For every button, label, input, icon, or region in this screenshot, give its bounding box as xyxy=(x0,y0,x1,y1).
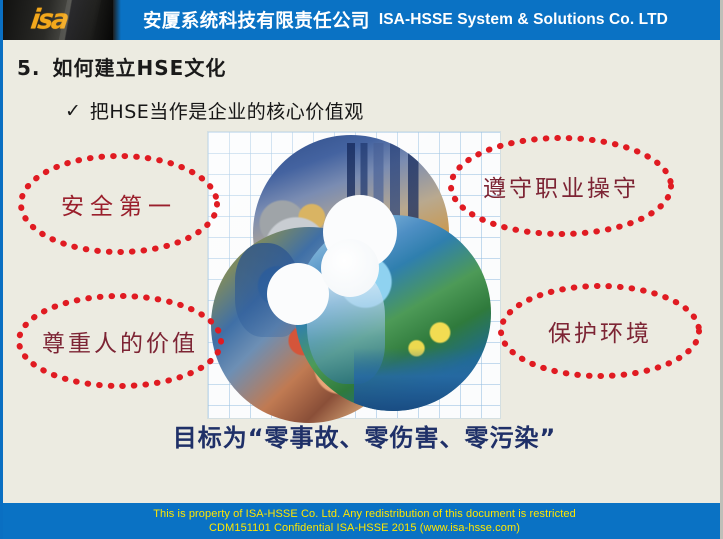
callout-professional-ethics: 遵守职业操守 xyxy=(447,134,675,238)
company-name-en: ISA-HSSE System & Solutions Co. LTD xyxy=(379,11,668,29)
isa-logo-plate: isa xyxy=(3,0,120,40)
page-title-text: 如何建立HSE文化 xyxy=(53,56,227,80)
bullet-item-label: 把HSE当作是企业的核心价值观 xyxy=(90,97,364,124)
bullet-item: ✓ 把HSE当作是企业的核心价值观 xyxy=(65,97,364,124)
collage-center-hole xyxy=(321,239,379,297)
presentation-slide: isa 安厦系统科技有限责任公司 ISA-HSSE System & Solut… xyxy=(0,0,723,539)
page-title-number: 5. xyxy=(17,56,41,80)
header-title-group: 安厦系统科技有限责任公司 ISA-HSSE System & Solutions… xyxy=(143,0,668,40)
callout-respect-people: 尊重人的价值 xyxy=(15,292,225,390)
callout-protect-environment: 保护环境 xyxy=(497,282,703,380)
footer-document-line: CDM151101 Confidential ISA-HSSE 2015 (ww… xyxy=(209,522,520,534)
callout-professional-ethics-label: 遵守职业操守 xyxy=(447,134,675,238)
isa-logo-text: isa xyxy=(29,4,69,36)
callout-safety-first: 安全第一 xyxy=(17,152,221,256)
slide-footer: This is property of ISA-HSSE Co. Ltd. An… xyxy=(3,503,723,539)
checkmark-icon: ✓ xyxy=(65,100,81,122)
collage-inner-cut-left xyxy=(267,263,329,325)
page-title: 5.如何建立HSE文化 xyxy=(17,52,226,81)
company-name-cn: 安厦系统科技有限责任公司 xyxy=(143,7,370,33)
slide-caption: 目标为“零事故、零伤害、零污染” xyxy=(3,418,723,453)
callout-protect-environment-label: 保护环境 xyxy=(497,282,703,380)
callout-safety-first-label: 安全第一 xyxy=(17,152,221,256)
header-divider xyxy=(113,0,121,40)
footer-copyright-line: This is property of ISA-HSSE Co. Ltd. An… xyxy=(153,508,576,520)
callout-respect-people-label: 尊重人的价值 xyxy=(15,292,225,390)
slide-header: isa 安厦系统科技有限责任公司 ISA-HSSE System & Solut… xyxy=(3,0,723,40)
